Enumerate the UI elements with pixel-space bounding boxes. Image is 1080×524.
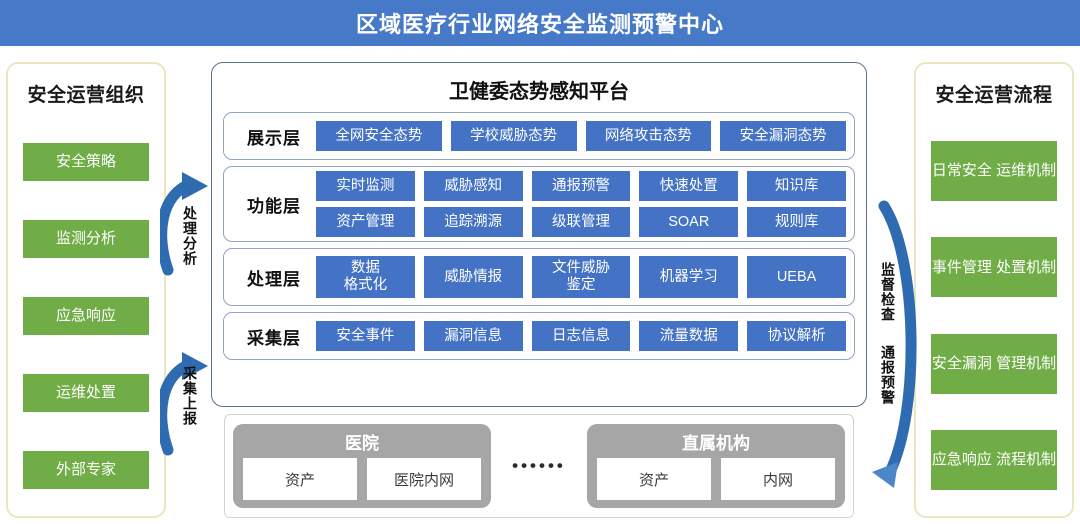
list-item[interactable]: 外部专家 [23,451,149,489]
chip[interactable]: 机器学习 [639,256,738,298]
chip[interactable]: 快速处置 [639,171,738,201]
list-item[interactable]: 运维处置 [23,374,149,412]
layer-label-function: 功能层 [232,192,316,217]
layer-chips-collect: 安全事件 漏洞信息 日志信息 流量数据 协议解析 [316,321,846,351]
list-item[interactable]: 日常安全 运维机制 [931,141,1057,201]
list-item[interactable]: 应急响应 流程机制 [931,430,1057,490]
chip[interactable]: 资产管理 [316,207,415,237]
layer-chips-function: 实时监测 威胁感知 通报预警 快速处置 知识库 资产管理 追踪溯源 级联管理 S… [316,171,846,237]
chip-row: 数据 格式化 威胁情报 文件威胁 鉴定 机器学习 UEBA [316,256,846,298]
ellipsis-separator: •••••• [491,456,587,476]
org-affiliated-institution[interactable]: 直属机构 资产 内网 [587,424,845,508]
org-cells: 资产 内网 [597,458,835,500]
org-title: 医院 [345,429,379,454]
org-cell[interactable]: 资产 [243,458,357,500]
list-item[interactable]: 监测分析 [23,220,149,258]
right-panel-list: 日常安全 运维机制 事件管理 处置机制 安全漏洞 管理机制 应急响应 流程机制 [916,121,1072,516]
chip[interactable]: 日志信息 [532,321,631,351]
list-item[interactable]: 安全漏洞 管理机制 [931,334,1057,394]
chip[interactable]: 知识库 [747,171,846,201]
chip[interactable]: 威胁情报 [424,256,523,298]
org-cell[interactable]: 医院内网 [367,458,481,500]
page-title-bar: 区域医疗行业网络安全监测预警中心 [0,0,1080,46]
chip[interactable]: 级联管理 [532,207,631,237]
layer-function: 功能层 实时监测 威胁感知 通报预警 快速处置 知识库 资产管理 追踪溯源 级联… [223,166,855,242]
chip[interactable]: 规则库 [747,207,846,237]
layer-label-process: 处理层 [232,265,316,290]
chip[interactable]: 通报预警 [532,171,631,201]
layer-collect: 采集层 安全事件 漏洞信息 日志信息 流量数据 协议解析 [223,312,855,360]
org-title: 直属机构 [682,429,750,454]
layer-chips-process: 数据 格式化 威胁情报 文件威胁 鉴定 机器学习 UEBA [316,256,846,298]
platform-box: 卫健委态势感知平台 展示层 全网安全态势 学校威胁态势 网络攻击态势 安全漏洞态… [211,62,867,407]
chip[interactable]: UEBA [747,256,846,298]
right-panel-title: 安全运营流程 [935,80,1052,107]
chip-row: 全网安全态势 学校威胁态势 网络攻击态势 安全漏洞态势 [316,121,846,151]
chip[interactable]: 威胁感知 [424,171,523,201]
layer-label-collect: 采集层 [232,324,316,349]
arrow-label-notification-alert: 通报预警 [881,345,895,405]
chip[interactable]: 数据 格式化 [316,256,415,298]
arrow-label-collect-report: 采集上报 [183,366,197,426]
center-column: 卫健委态势感知平台 展示层 全网安全态势 学校威胁态势 网络攻击态势 安全漏洞态… [211,62,867,518]
platform-title: 卫健委态势感知平台 [223,75,855,104]
left-panel-list: 安全策略 监测分析 应急响应 运维处置 外部专家 [8,121,164,516]
chip[interactable]: 文件威胁 鉴定 [532,256,631,298]
supervision-alert-arrow-icon [866,190,920,490]
chip[interactable]: 学校威胁态势 [451,121,577,151]
page-title: 区域医疗行业网络安全监测预警中心 [356,7,724,39]
org-cell[interactable]: 内网 [721,458,835,500]
layer-chips-display: 全网安全态势 学校威胁态势 网络攻击态势 安全漏洞态势 [316,121,846,151]
org-hospital[interactable]: 医院 资产 医院内网 [233,424,491,508]
chip[interactable]: 追踪溯源 [424,207,523,237]
chip[interactable]: 全网安全态势 [316,121,442,151]
chip[interactable]: 网络攻击态势 [586,121,712,151]
left-panel-title: 安全运营组织 [27,80,144,107]
layer-display: 展示层 全网安全态势 学校威胁态势 网络攻击态势 安全漏洞态势 [223,112,855,160]
list-item[interactable]: 事件管理 处置机制 [931,237,1057,297]
chip[interactable]: SOAR [639,207,738,237]
org-cell[interactable]: 资产 [597,458,711,500]
layer-process: 处理层 数据 格式化 威胁情报 文件威胁 鉴定 机器学习 UEBA [223,248,855,306]
security-operations-process-panel: 安全运营流程 日常安全 运维机制 事件管理 处置机制 安全漏洞 管理机制 应急响… [914,62,1074,518]
layer-label-display: 展示层 [232,124,316,149]
arrow-label-supervision-check: 监督检查 [881,262,895,322]
org-cells: 资产 医院内网 [243,458,481,500]
chip[interactable]: 漏洞信息 [424,321,523,351]
chip[interactable]: 安全事件 [316,321,415,351]
chip-row: 安全事件 漏洞信息 日志信息 流量数据 协议解析 [316,321,846,351]
diagram-root: 区域医疗行业网络安全监测预警中心 安全运营组织 安全策略 监测分析 应急响应 运… [0,0,1080,524]
list-item[interactable]: 安全策略 [23,143,149,181]
chip[interactable]: 协议解析 [747,321,846,351]
list-item[interactable]: 应急响应 [23,297,149,335]
chip[interactable]: 流量数据 [639,321,738,351]
chip-row: 资产管理 追踪溯源 级联管理 SOAR 规则库 [316,207,846,237]
security-operations-organization-panel: 安全运营组织 安全策略 监测分析 应急响应 运维处置 外部专家 [6,62,166,518]
arrow-label-process-analysis: 处理分析 [183,206,197,266]
chip-row: 实时监测 威胁感知 通报预警 快速处置 知识库 [316,171,846,201]
chip[interactable]: 实时监测 [316,171,415,201]
chip[interactable]: 安全漏洞态势 [720,121,846,151]
institutions-box: 医院 资产 医院内网 •••••• 直属机构 资产 内网 [224,414,854,518]
